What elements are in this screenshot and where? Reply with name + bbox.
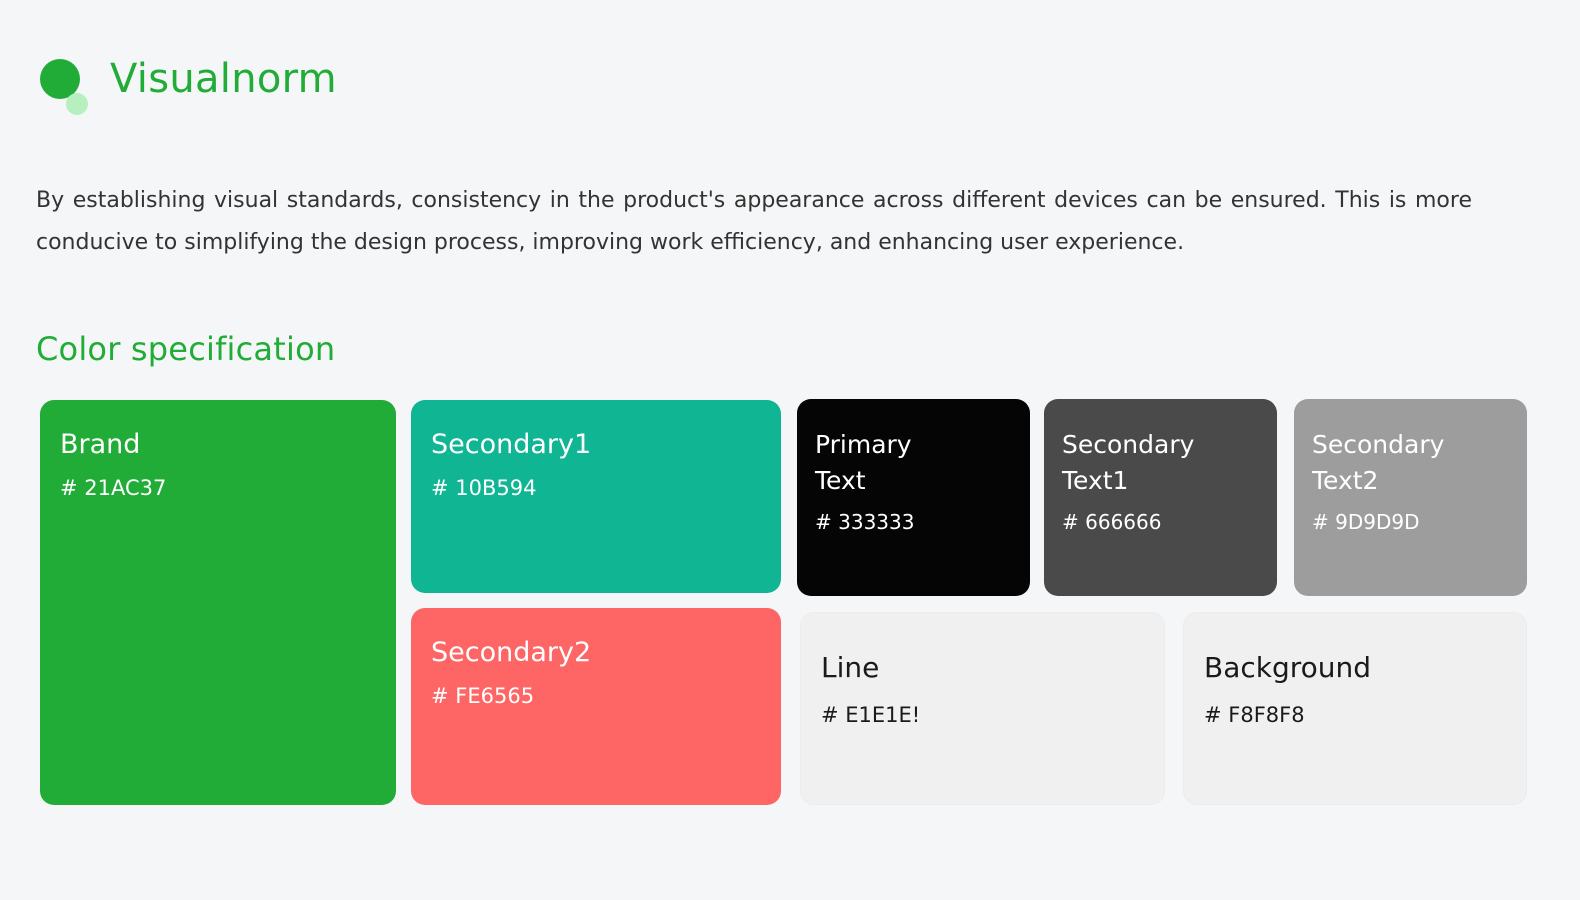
swatch-hex-value: # 21AC37 (60, 475, 382, 501)
swatch-label: Secondary1 (431, 426, 767, 463)
color-swatch-brand[interactable]: Brand # 21AC37 (40, 400, 396, 805)
swatch-hex-value: # FE6565 (431, 683, 767, 709)
color-swatch-line[interactable]: Line # E1E1E! (800, 612, 1165, 805)
swatch-hex-value: # 333333 (815, 509, 1016, 535)
swatch-label: Secondary2 (431, 634, 767, 671)
color-swatch-grid: Brand # 21AC37 Secondary1 # 10B594 Prima… (0, 0, 1580, 900)
swatch-hex-value: # F8F8F8 (1204, 702, 1512, 728)
swatch-label: Secondary Text1 (1062, 427, 1263, 499)
swatch-label: Brand (60, 426, 382, 463)
color-swatch-primary-text[interactable]: Primary Text # 333333 (797, 399, 1030, 596)
swatch-hex-value: # 9D9D9D (1312, 509, 1513, 535)
color-swatch-secondary1[interactable]: Secondary1 # 10B594 (411, 400, 781, 593)
swatch-label: Background (1204, 649, 1512, 686)
color-swatch-background[interactable]: Background # F8F8F8 (1183, 612, 1527, 805)
swatch-hex-value: # E1E1E! (821, 702, 1150, 728)
swatch-label: Line (821, 649, 1150, 686)
swatch-label: Secondary Text2 (1312, 427, 1513, 499)
color-specification-page: Visualnorm By establishing visual standa… (0, 0, 1580, 900)
swatch-label: Primary Text (815, 427, 1016, 499)
color-swatch-secondary2[interactable]: Secondary2 # FE6565 (411, 608, 781, 805)
color-swatch-secondary-text2[interactable]: Secondary Text2 # 9D9D9D (1294, 399, 1527, 596)
color-swatch-secondary-text1[interactable]: Secondary Text1 # 666666 (1044, 399, 1277, 596)
swatch-hex-value: # 666666 (1062, 509, 1263, 535)
swatch-hex-value: # 10B594 (431, 475, 767, 501)
